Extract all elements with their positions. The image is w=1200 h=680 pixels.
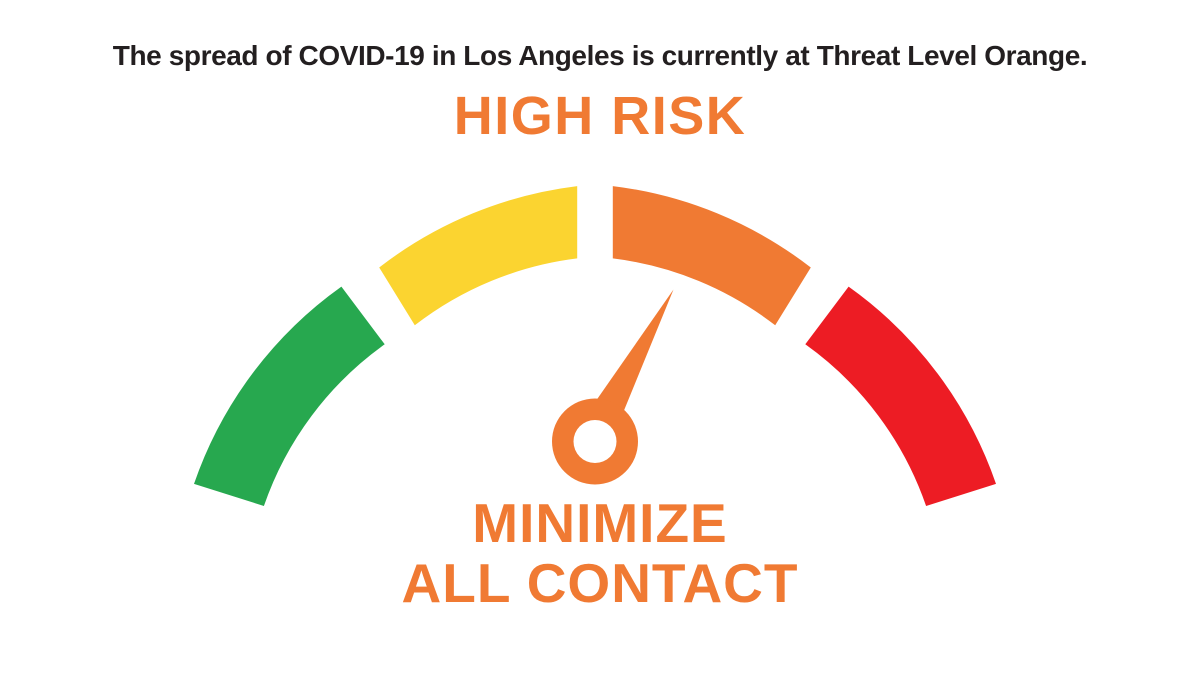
advice-line-1: MINIMIZE [0, 495, 1200, 553]
gauge-hub-center [574, 420, 617, 463]
advice-line-2: ALL CONTACT [0, 555, 1200, 613]
risk-level-label: HIGH RISK [0, 89, 1200, 143]
page-title: The spread of COVID-19 in Los Angeles is… [0, 40, 1200, 72]
gauge-segment-yellow [379, 186, 577, 325]
gauge-segment-orange [613, 186, 811, 325]
gauge-hub [552, 399, 638, 485]
gauge-segment-red [805, 287, 996, 506]
covid-threat-level-infographic: The spread of COVID-19 in Los Angeles is… [0, 0, 1200, 675]
gauge-segment-green [194, 287, 385, 506]
gauge-needle [584, 290, 674, 439]
